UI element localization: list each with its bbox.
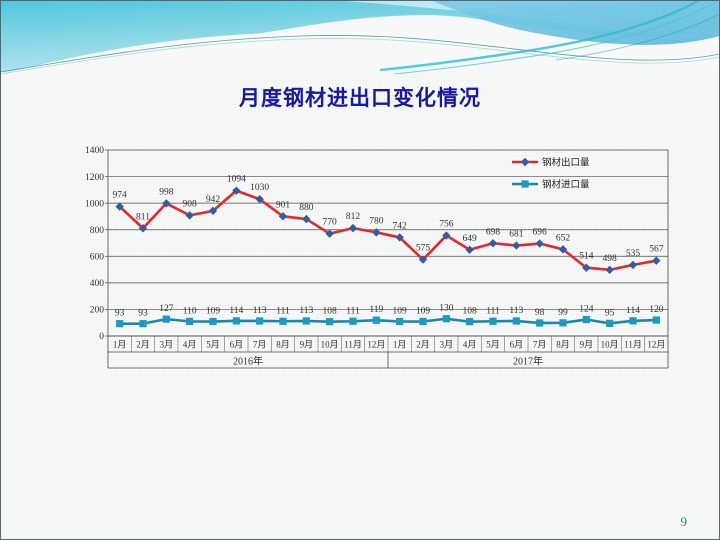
svg-text:200: 200 [90,306,105,316]
svg-text:2月: 2月 [416,340,430,350]
svg-text:3月: 3月 [440,340,454,350]
svg-text:7月: 7月 [533,340,547,350]
svg-text:1400: 1400 [85,146,104,156]
svg-text:742: 742 [393,221,408,231]
svg-text:127: 127 [159,304,174,314]
svg-text:1030: 1030 [250,183,269,193]
svg-text:2月: 2月 [136,340,150,350]
svg-text:8月: 8月 [556,340,570,350]
svg-text:1月: 1月 [393,340,407,350]
svg-text:4月: 4月 [463,340,477,350]
x-axis-month-band: 1月2月3月4月5月6月7月8月9月10月11月12月1月2月3月4月5月6月7… [108,336,668,368]
svg-text:130: 130 [439,304,454,314]
svg-text:8月: 8月 [276,340,290,350]
svg-text:6月: 6月 [510,340,524,350]
svg-text:119: 119 [369,305,383,315]
svg-text:10月: 10月 [321,340,339,350]
svg-text:109: 109 [206,307,221,317]
svg-text:12月: 12月 [647,340,665,350]
svg-text:942: 942 [206,195,221,205]
svg-text:111: 111 [276,306,290,316]
svg-text:9月: 9月 [580,340,594,350]
svg-text:95: 95 [605,308,615,318]
svg-text:698: 698 [486,227,501,237]
svg-text:99: 99 [558,308,568,318]
svg-text:4月: 4月 [183,340,197,350]
svg-text:681: 681 [509,230,524,240]
legend-label-export: 钢材出口量 [542,157,590,169]
svg-text:600: 600 [90,252,105,262]
data-labels-import: 9393127110109114113111113108111119109109… [115,304,664,319]
decorative-wave-banner [0,0,720,74]
svg-text:974: 974 [113,191,128,201]
svg-text:535: 535 [626,249,641,259]
svg-text:111: 111 [346,306,360,316]
svg-text:93: 93 [138,309,148,319]
svg-text:11月: 11月 [344,340,362,350]
svg-text:113: 113 [253,306,267,316]
svg-text:800: 800 [90,226,105,236]
svg-text:901: 901 [276,200,291,210]
svg-text:998: 998 [159,187,174,197]
svg-text:567: 567 [649,245,664,255]
svg-text:6月: 6月 [230,340,244,350]
svg-text:109: 109 [393,307,408,317]
svg-text:696: 696 [533,228,548,238]
svg-text:880: 880 [299,203,314,213]
page-title: 月度钢材进出口变化情况 [0,82,720,112]
svg-text:2016年: 2016年 [233,355,263,368]
svg-text:1094: 1094 [227,175,246,185]
svg-text:1200: 1200 [85,173,104,183]
series-import [116,315,660,327]
svg-text:811: 811 [136,212,150,222]
svg-text:908: 908 [183,199,198,209]
svg-text:98: 98 [535,308,545,318]
svg-text:5月: 5月 [206,340,220,350]
svg-text:110: 110 [183,306,197,316]
legend-label-import: 钢材进口量 [542,179,590,191]
svg-text:10月: 10月 [601,340,619,350]
svg-text:7月: 7月 [253,340,267,350]
svg-text:11月: 11月 [624,340,642,350]
svg-text:780: 780 [369,216,384,226]
svg-text:0: 0 [99,332,104,342]
svg-text:575: 575 [416,244,431,254]
svg-text:113: 113 [299,306,313,316]
svg-text:111: 111 [486,306,500,316]
svg-text:9月: 9月 [300,340,314,350]
svg-text:649: 649 [463,234,478,244]
svg-text:124: 124 [579,305,594,315]
svg-text:756: 756 [439,220,454,230]
svg-text:114: 114 [626,306,640,316]
svg-text:2017年: 2017年 [513,355,543,368]
svg-text:652: 652 [556,233,571,243]
svg-text:770: 770 [323,218,338,228]
svg-text:113: 113 [509,306,523,316]
svg-text:812: 812 [346,212,361,222]
svg-text:12月: 12月 [367,340,385,350]
svg-text:5月: 5月 [486,340,500,350]
svg-text:93: 93 [115,309,125,319]
page-number: 9 [681,514,688,530]
svg-text:400: 400 [90,279,105,289]
svg-text:1月: 1月 [113,340,127,350]
svg-text:3月: 3月 [160,340,174,350]
svg-text:108: 108 [463,307,478,317]
line-chart: 0200400600800100012001400 1月2月3月4月5月6月7月… [72,144,672,384]
svg-text:1000: 1000 [85,199,104,209]
svg-text:498: 498 [603,254,618,264]
svg-text:108: 108 [323,307,338,317]
chart-legend[interactable]: 钢材出口量钢材进口量 [512,157,590,191]
svg-text:114: 114 [229,306,243,316]
svg-text:514: 514 [579,252,594,262]
svg-text:120: 120 [649,305,664,315]
svg-text:109: 109 [416,307,431,317]
